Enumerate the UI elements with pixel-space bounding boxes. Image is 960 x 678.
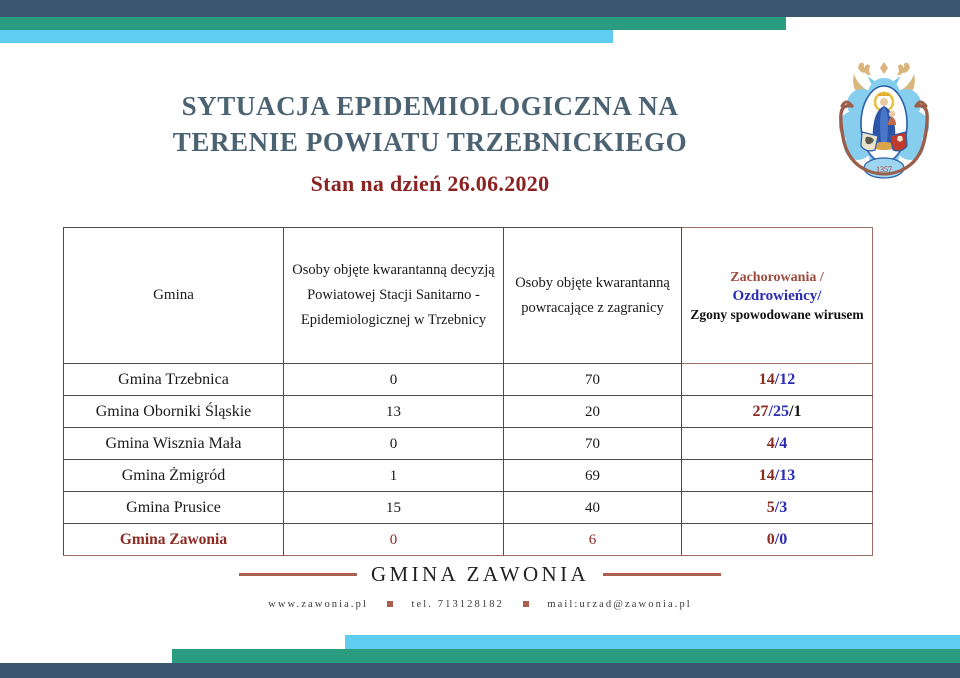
quarantine-psse-value: 13 [386, 404, 401, 420]
footer-brand-row: GMINA ZAWONIA [0, 562, 960, 587]
column-header-quarantine-psse-label: Osoby objęte kwarantanną decyzją Powiato… [284, 258, 503, 333]
cell-gmina: Gmina Oborniki Śląskie [64, 396, 284, 428]
gmina-label: Gmina Zawonia [120, 531, 227, 548]
cell-quarantine-abroad: 6 [504, 524, 682, 556]
column-header-cases-label: Zachorowania / [682, 269, 872, 287]
quarantine-psse-value: 15 [386, 500, 401, 516]
cases-value: 14 [759, 467, 775, 484]
page-title: SYTUACJA EPIDEMIOLOGICZNA NA TERENIE POW… [60, 88, 800, 197]
quarantine-abroad-value: 20 [585, 404, 600, 420]
cell-quarantine-abroad: 70 [504, 364, 682, 396]
column-header-recovered-label: Ozdrowieńcy/ [682, 287, 872, 306]
coat-of-arms-icon: 1357 [828, 44, 940, 194]
recovered-value: /4 [775, 435, 787, 452]
separator-square-icon [387, 601, 393, 607]
cell-quarantine-psse: 0 [284, 524, 504, 556]
title-line-1: SYTUACJA EPIDEMIOLOGICZNA NA [60, 88, 800, 124]
quarantine-abroad-value: 6 [589, 532, 597, 548]
column-header-quarantine-psse: Osoby objęte kwarantanną decyzją Powiato… [284, 228, 504, 364]
separator-square-icon [523, 601, 529, 607]
title-line-2: TERENIE POWIATU TRZEBNICKIEGO [60, 124, 800, 160]
quarantine-abroad-value: 40 [585, 500, 600, 516]
cell-quarantine-psse: 1 [284, 460, 504, 492]
quarantine-abroad-value: 69 [585, 468, 600, 484]
gmina-label: Gmina Oborniki Śląskie [96, 403, 252, 420]
gmina-label: Gmina Wisznia Mała [106, 435, 242, 452]
cell-statistics: 0/0 [682, 524, 873, 556]
cell-statistics: 14/13 [682, 460, 873, 492]
top-bar-green [0, 17, 786, 30]
table-row: Gmina Oborniki Śląskie 13 20 27/25/1 [64, 396, 873, 428]
cell-quarantine-psse: 0 [284, 428, 504, 460]
cell-statistics: 14/12 [682, 364, 873, 396]
bottom-bar-navy [0, 663, 960, 678]
table-row: Gmina Prusice 15 40 5/3 [64, 492, 873, 524]
bottom-bar-green [172, 649, 960, 663]
footer-rule-right [603, 573, 721, 576]
footer: GMINA ZAWONIA www.zawonia.pl tel. 713128… [0, 562, 960, 610]
deaths-value: /1 [789, 403, 801, 420]
column-header-gmina-label: Gmina [64, 283, 283, 308]
recovered-value: /13 [775, 467, 795, 484]
column-header-statistics: Zachorowania / Ozdrowieńcy/ Zgony spowod… [682, 228, 873, 364]
cell-statistics: 4/4 [682, 428, 873, 460]
cell-quarantine-abroad: 40 [504, 492, 682, 524]
footer-email[interactable]: mail:urzad@zawonia.pl [547, 599, 691, 610]
cell-gmina: Gmina Trzebnica [64, 364, 284, 396]
table-row: Gmina Wisznia Mała 0 70 4/4 [64, 428, 873, 460]
cell-gmina: Gmina Zawonia [64, 524, 284, 556]
footer-municipality-name: GMINA ZAWONIA [371, 562, 589, 587]
quarantine-abroad-value: 70 [585, 436, 600, 452]
cell-quarantine-abroad: 20 [504, 396, 682, 428]
quarantine-psse-value: 0 [390, 532, 398, 548]
cases-value: 4 [767, 435, 775, 452]
footer-phone[interactable]: tel. 713128182 [412, 599, 504, 610]
column-header-gmina: Gmina [64, 228, 284, 364]
gmina-label: Gmina Prusice [126, 499, 221, 516]
gmina-label: Gmina Żmigród [122, 467, 226, 484]
footer-website[interactable]: www.zawonia.pl [268, 599, 368, 610]
footer-contact-row: www.zawonia.pl tel. 713128182 mail:urzad… [0, 599, 960, 610]
cases-value: 0 [767, 531, 775, 548]
cell-statistics: 27/25/1 [682, 396, 873, 428]
top-bar-navy [0, 0, 960, 17]
cell-gmina: Gmina Prusice [64, 492, 284, 524]
column-header-quarantine-abroad-label: Osoby objęte kwarantanną powracające z z… [504, 271, 681, 321]
epidemiological-data-table: Gmina Osoby objęte kwarantanną decyzją P… [63, 227, 873, 556]
bottom-bar-blue [345, 635, 960, 649]
cell-quarantine-abroad: 70 [504, 428, 682, 460]
recovered-value: /3 [775, 499, 787, 516]
cell-gmina: Gmina Żmigród [64, 460, 284, 492]
cases-value: 27 [753, 403, 769, 420]
cell-quarantine-psse: 0 [284, 364, 504, 396]
cell-quarantine-abroad: 69 [504, 460, 682, 492]
recovered-value: /12 [775, 371, 795, 388]
cell-statistics: 5/3 [682, 492, 873, 524]
column-header-deaths-label: Zgony spowodowane wirusem [682, 306, 872, 323]
top-bar-blue [0, 30, 613, 43]
gmina-label: Gmina Trzebnica [118, 371, 229, 388]
quarantine-psse-value: 1 [390, 468, 398, 484]
table-header-row: Gmina Osoby objęte kwarantanną decyzją P… [64, 228, 873, 364]
table-row: Gmina Żmigród 1 69 14/13 [64, 460, 873, 492]
cases-value: 5 [767, 499, 775, 516]
table-row-highlighted: Gmina Zawonia 0 6 0/0 [64, 524, 873, 556]
quarantine-abroad-value: 70 [585, 372, 600, 388]
footer-rule-left [239, 573, 357, 576]
cases-value: 14 [759, 371, 775, 388]
cell-gmina: Gmina Wisznia Mała [64, 428, 284, 460]
column-header-quarantine-abroad: Osoby objęte kwarantanną powracające z z… [504, 228, 682, 364]
cell-quarantine-psse: 15 [284, 492, 504, 524]
cell-quarantine-psse: 13 [284, 396, 504, 428]
recovered-value: /0 [775, 531, 787, 548]
report-date: Stan na dzień 26.06.2020 [60, 171, 800, 197]
recovered-value: /25 [769, 403, 789, 420]
quarantine-psse-value: 0 [390, 436, 398, 452]
table-row: Gmina Trzebnica 0 70 14/12 [64, 364, 873, 396]
quarantine-psse-value: 0 [390, 372, 398, 388]
